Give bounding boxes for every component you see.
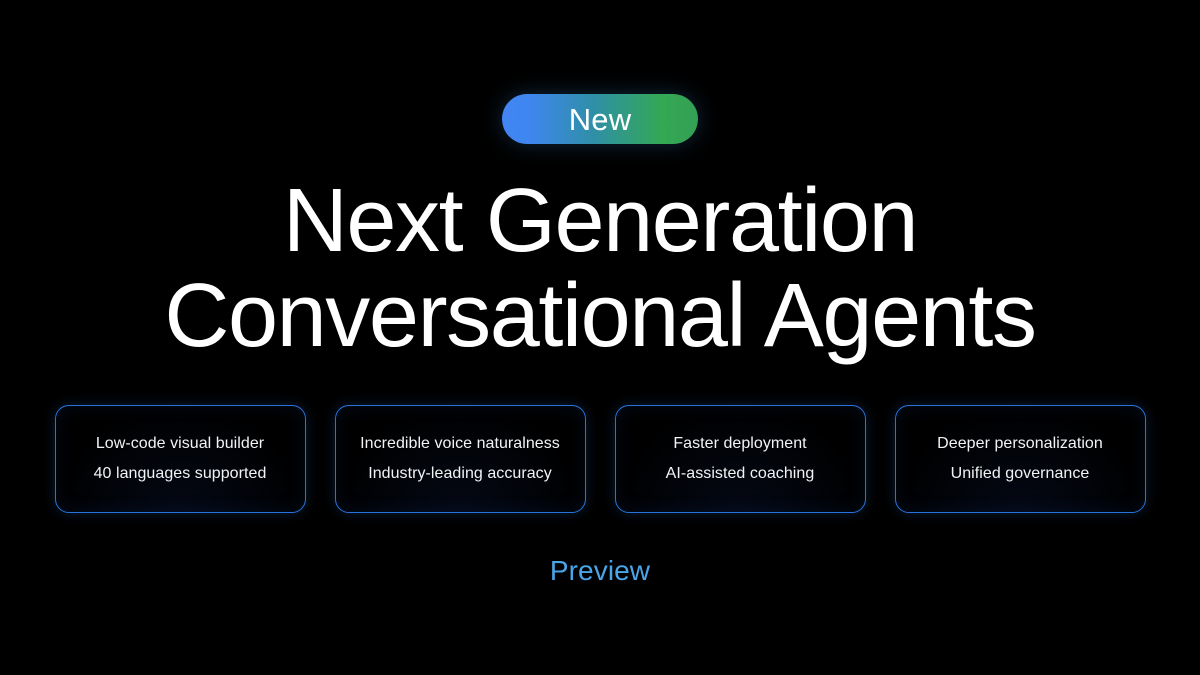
- feature-card-2-line-1: Incredible voice naturalness: [360, 435, 560, 453]
- footer: Preview: [0, 557, 1200, 585]
- feature-card-3: Faster deployment AI-assisted coaching: [615, 405, 866, 513]
- feature-card-2-line-2: Industry-leading accuracy: [368, 465, 552, 483]
- feature-card-1: Low-code visual builder 40 languages sup…: [55, 405, 306, 513]
- new-badge-label: New: [569, 104, 632, 135]
- feature-card-4-line-1: Deeper personalization: [937, 435, 1103, 453]
- badge-row: New: [0, 94, 1200, 144]
- page-title: Next Generation Conversational Agents: [0, 174, 1200, 365]
- preview-label: Preview: [550, 555, 650, 586]
- feature-card-3-line-2: AI-assisted coaching: [666, 465, 815, 483]
- page-title-line-1: Next Generation: [0, 174, 1200, 269]
- feature-card-2: Incredible voice naturalness Industry-le…: [335, 405, 586, 513]
- slide-root: New Next Generation Conversational Agent…: [0, 0, 1200, 675]
- feature-card-1-line-1: Low-code visual builder: [96, 435, 264, 453]
- feature-card-1-line-2: 40 languages supported: [94, 465, 267, 483]
- new-badge: New: [502, 94, 698, 144]
- page-title-line-2: Conversational Agents: [0, 269, 1200, 364]
- feature-card-3-line-1: Faster deployment: [673, 435, 806, 453]
- feature-card-row: Low-code visual builder 40 languages sup…: [0, 405, 1200, 513]
- feature-card-4-line-2: Unified governance: [951, 465, 1090, 483]
- feature-card-4: Deeper personalization Unified governanc…: [895, 405, 1146, 513]
